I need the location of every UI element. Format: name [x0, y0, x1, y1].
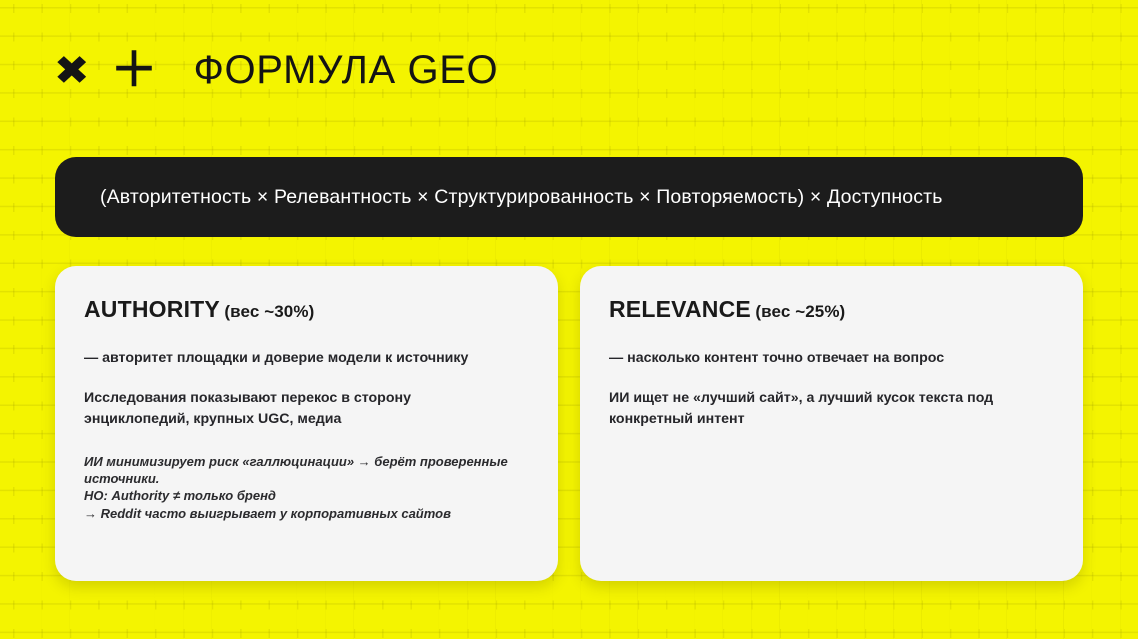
card-body-text: Исследования показывают перекос в сторон…	[84, 388, 484, 431]
factor-card-relevance: RELEVANCE (вес ~25%) — насколько контент…	[580, 266, 1083, 581]
card-weight-label: (вес ~30%)	[224, 302, 314, 321]
factor-card-authority: AUTHORITY (вес ~30%) — авторитет площадк…	[55, 266, 558, 581]
card-note-text: ИИ минимизирует риск «галлюцинации» → бе…	[84, 453, 528, 522]
factor-cards-row: AUTHORITY (вес ~30%) — авторитет площадк…	[55, 266, 1083, 581]
multiply-icon: ✖	[54, 51, 90, 91]
card-body-text: ИИ ищет не «лучший сайт», а лучший кусок…	[609, 388, 1053, 431]
card-lead-text: — авторитет площадки и доверие модели к …	[84, 348, 528, 369]
card-heading: RELEVANCE (вес ~25%)	[609, 296, 1053, 323]
card-weight-label: (вес ~25%)	[755, 302, 845, 321]
plus-icon: ＋	[111, 47, 158, 94]
formula-expression: (Авторитетность × Релевантность × Структ…	[100, 186, 943, 209]
card-heading: AUTHORITY (вес ~30%)	[84, 296, 528, 323]
slide-header: ✖ ＋ ФОРМУЛА GEO	[55, 47, 498, 94]
formula-bar: (Авторитетность × Релевантность × Структ…	[55, 157, 1083, 237]
page-title: ФОРМУЛА GEO	[194, 48, 499, 93]
card-keyword: RELEVANCE	[609, 296, 751, 322]
card-keyword: AUTHORITY	[84, 296, 220, 322]
card-lead-text: — насколько контент точно отвечает на во…	[609, 348, 1053, 369]
slide: ✖ ＋ ФОРМУЛА GEO (Авторитетность × Релева…	[0, 0, 1138, 639]
